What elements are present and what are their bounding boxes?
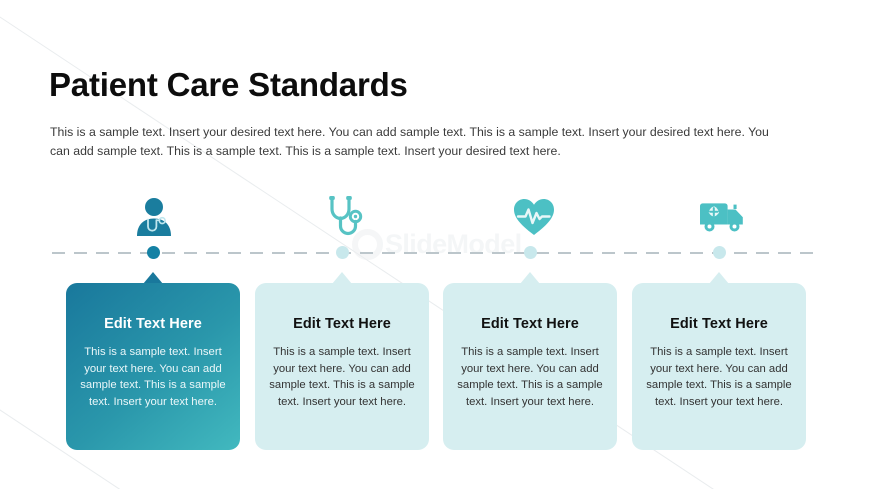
step-card-title: Edit Text Here bbox=[80, 283, 226, 332]
step-icon-4[interactable] bbox=[696, 193, 748, 241]
step-icon-2[interactable] bbox=[318, 193, 370, 241]
step-icon-3[interactable] bbox=[508, 193, 560, 241]
step-icon-1[interactable] bbox=[128, 193, 180, 241]
timeline-dot-4[interactable] bbox=[713, 246, 726, 259]
step-card-4[interactable]: Edit Text Here This is a sample text. In… bbox=[632, 283, 806, 450]
step-card-body: This is a sample text. Insert your text … bbox=[269, 332, 415, 410]
step-card-title: Edit Text Here bbox=[269, 283, 415, 332]
page-subtitle: This is a sample text. Insert your desir… bbox=[50, 123, 792, 161]
step-card-body: This is a sample text. Insert your text … bbox=[80, 332, 226, 410]
step-card-1[interactable]: Edit Text Here This is a sample text. In… bbox=[66, 283, 240, 450]
stethoscope-icon bbox=[324, 195, 364, 239]
step-card-3[interactable]: Edit Text Here This is a sample text. In… bbox=[443, 283, 617, 450]
heart-pulse-icon bbox=[512, 197, 556, 237]
ambulance-icon bbox=[698, 200, 746, 234]
step-card-2[interactable]: Edit Text Here This is a sample text. In… bbox=[255, 283, 429, 450]
timeline-dot-1[interactable] bbox=[147, 246, 160, 259]
timeline-dot-2[interactable] bbox=[336, 246, 349, 259]
timeline-dashed-line bbox=[52, 252, 822, 254]
step-card-title: Edit Text Here bbox=[457, 283, 603, 332]
doctor-icon bbox=[133, 197, 175, 237]
step-card-body: This is a sample text. Insert your text … bbox=[457, 332, 603, 410]
step-card-title: Edit Text Here bbox=[646, 283, 792, 332]
step-card-body: This is a sample text. Insert your text … bbox=[646, 332, 792, 410]
page-title: Patient Care Standards bbox=[49, 66, 408, 104]
timeline-dot-3[interactable] bbox=[524, 246, 537, 259]
slide-canvas: Patient Care Standards This is a sample … bbox=[0, 0, 870, 489]
